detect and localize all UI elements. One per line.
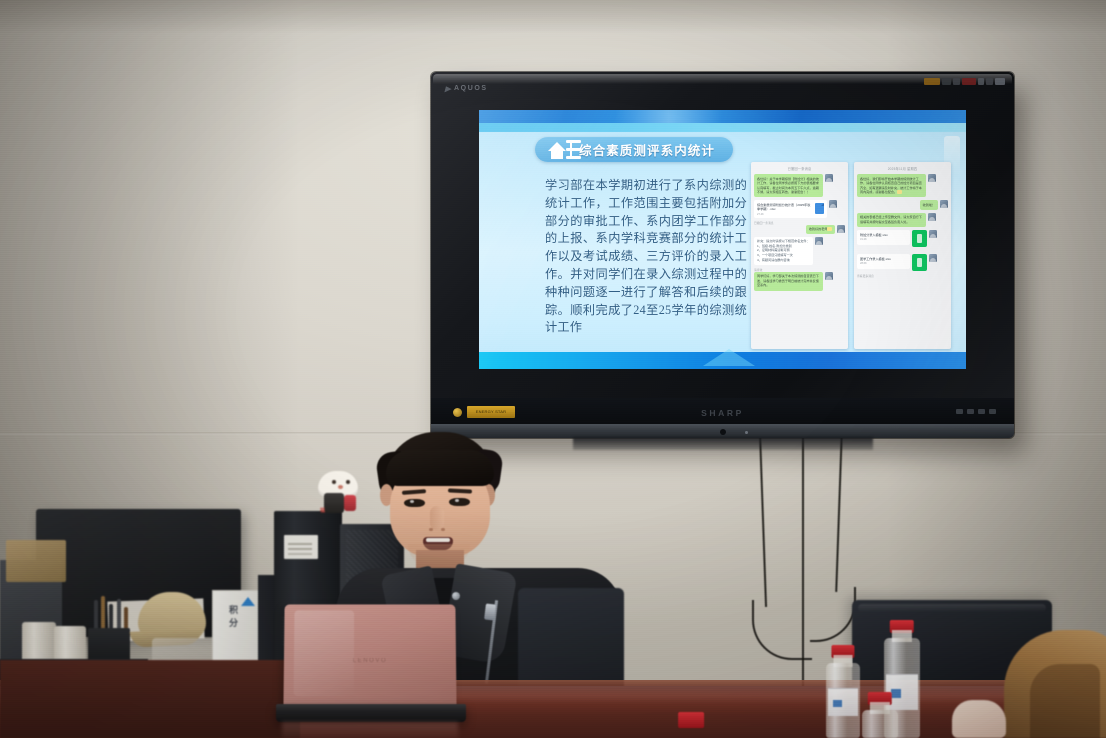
jacket-button [452, 592, 460, 600]
chat-bubble-text: 收到好的老师 [809, 227, 828, 231]
chat-file-bubble: 综合素质测评附加分统计表（2025年秋季学期）.xlsx 27.4K [754, 200, 827, 218]
laptop-reflection [282, 722, 458, 738]
cardboard-box [6, 540, 66, 582]
chat-message-row: 相关的表格已经上传至群文件，请大家自行下载填写并按时提交至各班负责人处。 [857, 213, 948, 227]
zipper-pull [484, 603, 496, 620]
chat-file-bubble: 附加分录入模板.xlsx 31.2K [857, 230, 910, 245]
chat-message-row: 补充：提交时请按以下规范命名文件： 1、班级-姓名-附加分类别 2、证明材料需清… [754, 237, 845, 265]
avatar [825, 174, 833, 182]
chat-bubble: 各位好，我们即将开始本学期的综测统计工作，请各位同学认真核查自己的加分项目是否齐… [857, 174, 926, 197]
slide-title: 综合素质测评系内统计 [579, 140, 715, 159]
chat-bubble-text: 各位好，我们即将开始本学期的综测统计工作，请各位同学认真核查自己的加分项目是否齐… [860, 177, 922, 195]
avatar [815, 237, 823, 245]
eye-highlight [410, 500, 414, 503]
conference-room-scene: AQUOS [0, 0, 1106, 738]
sharp-logo: SHARP [701, 408, 744, 418]
document-thumbnail [912, 254, 927, 271]
chat-bubble: 各位好！关于本学期综测【附加分】相关的统计工作，请各位同学务必按照下方的表格要求… [754, 174, 823, 197]
nostril [429, 528, 433, 531]
aquos-logo-text: AQUOS [454, 85, 488, 92]
bottle-label [828, 688, 858, 716]
avatar [825, 272, 833, 280]
presentation-slide: 综合素质测评系内统计 学习部在本学期初进行了系内综测的统计工作，工作范围主要包括… [479, 110, 966, 369]
chat-bubble: 相关的表格已经上传至群文件，请大家自行下载填写并按时提交至各班负责人处。 [857, 213, 926, 227]
wall-mounted-tv: AQUOS [431, 72, 1014, 438]
chat-bubble: 收到啦！ [920, 200, 938, 210]
highlight [897, 190, 902, 194]
nostril [441, 528, 445, 531]
chat-message-row: 综合素质测评附加分统计表（2025年秋季学期）.xlsx 27.4K [754, 200, 845, 218]
avatar [829, 200, 837, 208]
highlight [827, 227, 832, 231]
chat-message-row: 附加分录入模板.xlsx 31.2K [857, 230, 948, 247]
document-thumbnail [912, 230, 927, 247]
chat-bubble: 收到好的老师 [806, 225, 835, 234]
nose [430, 506, 444, 530]
hand-right-person [952, 700, 1006, 738]
avatar [940, 200, 948, 208]
laptop-lid: LENOVO [283, 604, 456, 708]
slide-top-band [479, 110, 966, 123]
slide-body-text: 学习部在本学期初进行了系内综测的统计工作，工作范围主要包括附加分部分的审批工作、… [545, 177, 747, 337]
file-name: 附加分录入模板.xlsx [860, 233, 907, 237]
bottle-cap [678, 712, 704, 728]
file-name: 综合素质测评附加分统计表（2025年秋季学期）.xlsx [757, 203, 813, 212]
chat-date: 已撤回一条消息 [754, 166, 845, 171]
chat-message-row: 收到啦！ [857, 200, 948, 210]
laptop[interactable]: LENOVO [276, 604, 462, 738]
chat-message-row: 同学们好，学习部关于本次综测的自查表已下发，请各班学习委员于明日前统计完毕并反馈… [754, 272, 845, 291]
file-size: 27.4K [757, 213, 813, 216]
box-label: 积分 [227, 605, 240, 631]
chat-bubble: 同学们好，学习部关于本次综测的自查表已下发，请各班学习委员于明日前统计完毕并反馈… [754, 272, 823, 291]
aquos-logo: AQUOS [443, 85, 488, 92]
tv-screen[interactable]: 综合素质测评系内统计 学习部在本学期初进行了系内综测的统计工作，工作范围主要包括… [479, 110, 966, 369]
power-led-icon [745, 431, 748, 434]
chat-message-row: 各位好，我们即将开始本学期的综测统计工作，请各位同学认真核查自己的加分项目是否齐… [857, 174, 948, 197]
spreadsheet-icon [815, 203, 824, 214]
asset-label [284, 535, 318, 559]
avatar [929, 230, 937, 238]
chat-message-row: 团学工作录入模板.xlsx 28.6K [857, 254, 948, 271]
house-chart-icon [545, 129, 585, 169]
file-size: 28.6K [860, 262, 907, 266]
water-bottle [826, 645, 860, 738]
gold-emblem-icon [453, 408, 462, 417]
eye-left [404, 499, 425, 507]
energy-sticker: ENERGY STAR [467, 406, 515, 418]
toy-label: 福 [320, 507, 325, 514]
avatar [928, 213, 936, 221]
slide-title-bar: 综合素质测评系内统计 [535, 137, 733, 162]
tv-bottom-marks [956, 409, 996, 414]
water-bottle [862, 692, 898, 738]
chat-screenshot-left: 已撤回一条消息 各位好！关于本学期综测【附加分】相关的统计工作，请各位同学务必按… [751, 162, 848, 349]
chat-message-row: 收到好的老师 [754, 225, 845, 234]
ir-receiver-icon [720, 429, 726, 435]
file-name: 团学工作录入模板.xlsx [860, 257, 907, 261]
tv-corner-badges [924, 78, 1005, 85]
eye-right [449, 498, 470, 506]
box-logo-icon [241, 597, 255, 606]
laptop-brand-logo: LENOVO [353, 658, 388, 664]
chat-message-row: 各位好！关于本学期综测【附加分】相关的统计工作，请各位同学务必按照下方的表格要求… [754, 174, 845, 197]
laptop-base [276, 704, 466, 722]
avatar [929, 254, 937, 262]
chat-date: 2025年11月 星期四 [857, 166, 948, 171]
eye-highlight [455, 499, 459, 502]
chat-bubble: 补充：提交时请按以下规范命名文件： 1、班级-姓名-附加分类别 2、证明材料需清… [754, 237, 813, 265]
chat-file-bubble: 团学工作录入模板.xlsx 28.6K [857, 254, 910, 269]
chat-system-note: 查看更多消息 [857, 274, 948, 278]
chat-screenshot-right: 2025年11月 星期四 各位好，我们即将开始本学期的综测统计工作，请各位同学认… [854, 162, 951, 349]
slide-bottom-band [479, 352, 966, 369]
file-size: 31.2K [860, 238, 907, 242]
table-left-section [0, 660, 300, 738]
avatar [928, 174, 936, 182]
bottle-cap-on-table [676, 712, 706, 738]
chat-screenshots: 已撤回一条消息 各位好！关于本学期综测【附加分】相关的统计工作，请各位同学务必按… [751, 162, 951, 349]
hair-fringe [386, 450, 494, 486]
avatar [837, 225, 845, 233]
